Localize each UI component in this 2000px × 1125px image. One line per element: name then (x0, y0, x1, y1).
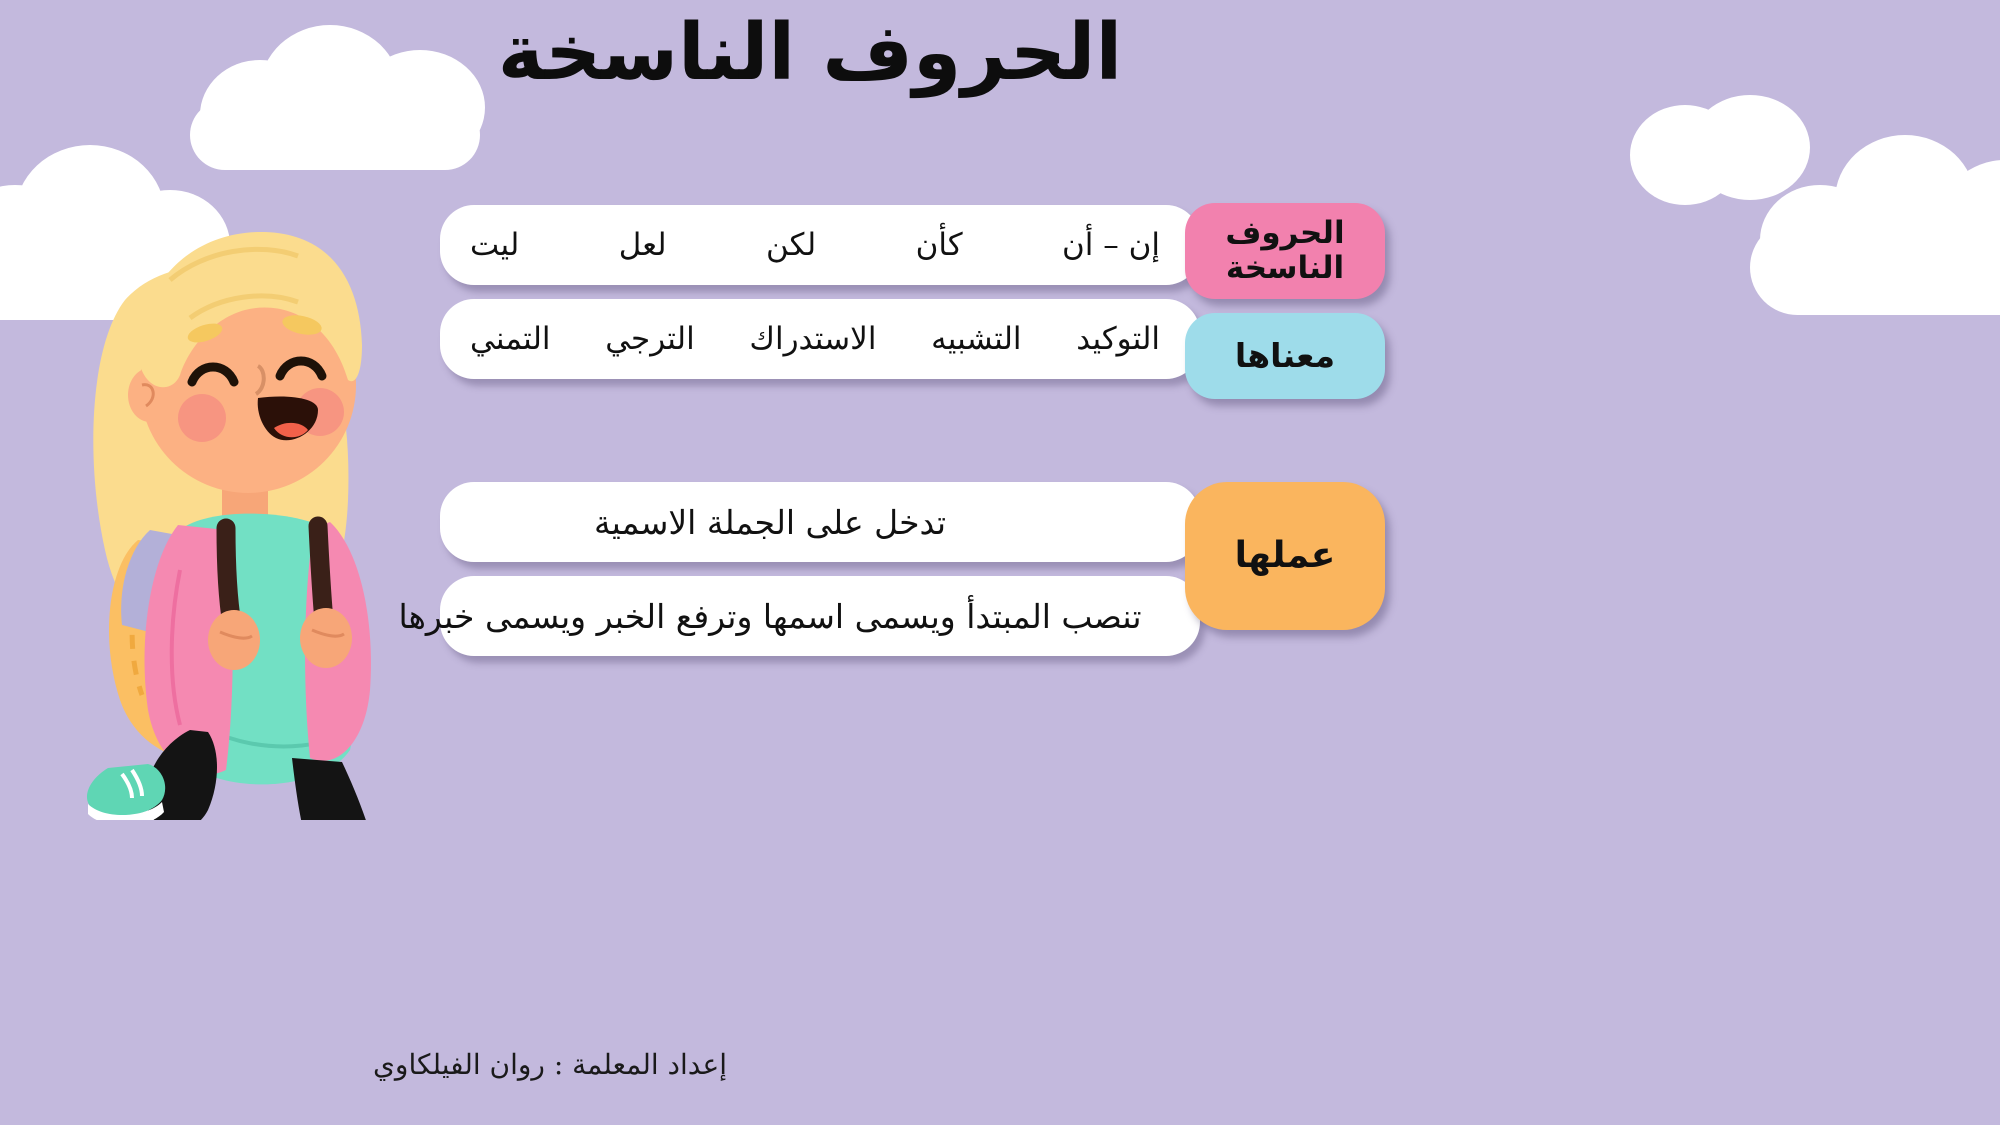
letter-cell: لعل (619, 227, 667, 263)
work-table: تدخل على الجملة الاسمية تنصب المبتدأ ويس… (440, 482, 1390, 670)
page-title-text: الحروف الناسخة (498, 8, 1122, 98)
letter-cell: كأن (916, 227, 963, 263)
meaning-cell: الاستدراك (749, 321, 876, 357)
schoolgirl-illustration (30, 170, 430, 820)
tag-work: عملها (1185, 482, 1385, 630)
footer-credit: إعداد المعلمة : روان الفيلكاوي (300, 1048, 800, 1081)
cloud-top-right-icon (1630, 95, 1810, 205)
letter-cell: إن – أن (1062, 227, 1160, 263)
slide-canvas: الحروف الناسخة (0, 0, 2000, 1125)
meaning-cell: التوكيد (1076, 321, 1160, 357)
work-row: تدخل على الجملة الاسمية (440, 482, 1200, 562)
work-row: تنصب المبتدأ ويسمى اسمها وترفع الخبر ويس… (440, 576, 1200, 656)
work-sentence: تدخل على الجملة الاسمية (594, 503, 946, 542)
meanings-cells: التوكيد التشبيه الاستدراك الترجي التمني (470, 321, 1170, 357)
cloud-right-icon (1750, 125, 2000, 315)
work-row-wrap: تدخل على الجملة الاسمية تنصب المبتدأ ويس… (440, 482, 1390, 656)
page-title: الحروف الناسخة (0, 8, 2000, 98)
letters-row-wrap: إن – أن كأن لكن لعل ليت التوكيد التشبيه … (440, 205, 1390, 379)
letters-table: إن – أن كأن لكن لعل ليت التوكيد التشبيه … (440, 205, 1390, 393)
meaning-cell: التشبيه (931, 321, 1021, 357)
meaning-cell: التمني (470, 321, 551, 357)
letter-cell: ليت (470, 227, 519, 263)
letters-row: إن – أن كأن لكن لعل ليت (440, 205, 1200, 285)
meanings-row: التوكيد التشبيه الاستدراك الترجي التمني (440, 299, 1200, 379)
meaning-cell: الترجي (605, 321, 695, 357)
tag-letters: الحروف الناسخة (1185, 203, 1385, 299)
tag-meaning: معناها (1185, 313, 1385, 399)
letters-cells: إن – أن كأن لكن لعل ليت (470, 227, 1170, 263)
letter-cell: لكن (766, 227, 816, 263)
work-sentence: تنصب المبتدأ ويسمى اسمها وترفع الخبر ويس… (398, 597, 1141, 636)
